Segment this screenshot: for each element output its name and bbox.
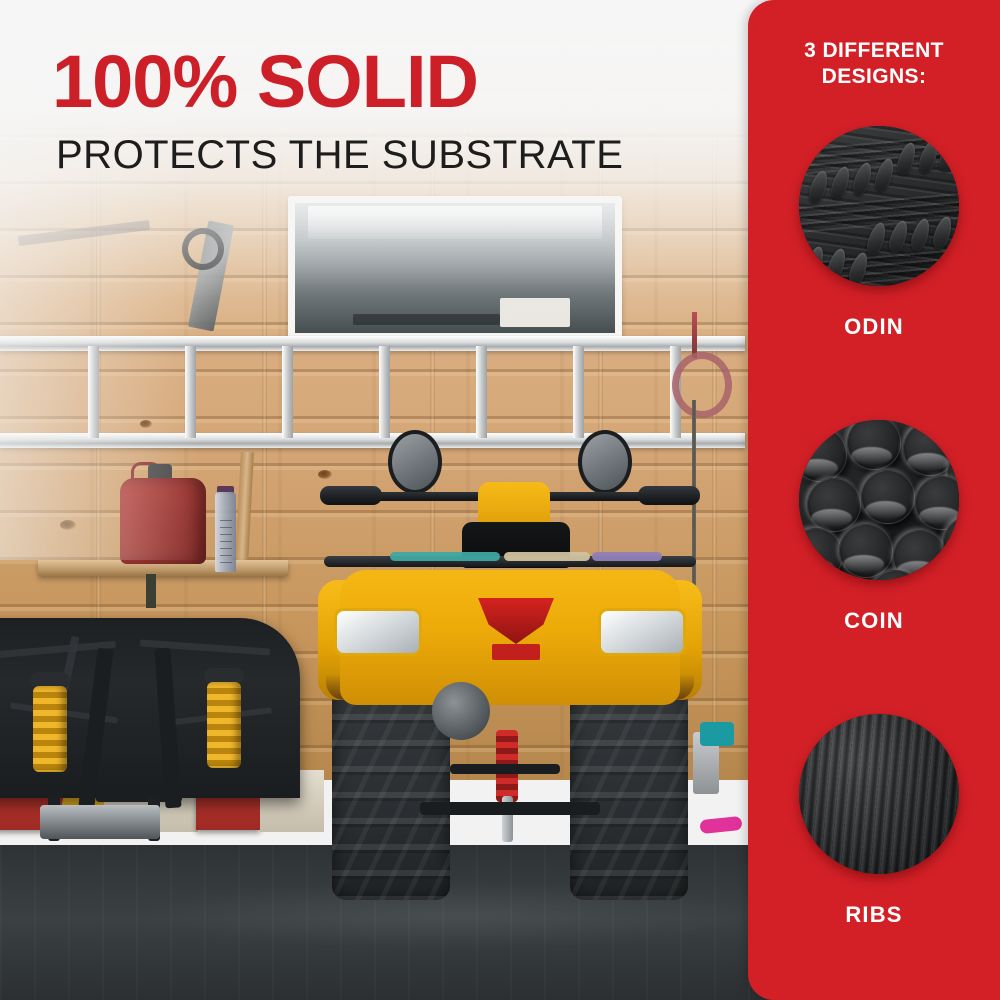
design-option-coin[interactable]: COIN bbox=[748, 412, 1000, 706]
trailer-crossmember bbox=[96, 788, 182, 802]
shelf-bracket bbox=[146, 574, 156, 608]
atv-mirror bbox=[388, 430, 442, 494]
hanging-ring bbox=[672, 352, 732, 418]
designs-panel-heading: 3 DIFFERENT DESIGNS: bbox=[748, 0, 1000, 90]
handlebar-grip bbox=[638, 486, 700, 505]
swatch-odin[interactable] bbox=[799, 126, 959, 286]
swatch-coin[interactable] bbox=[799, 420, 959, 580]
hanging-rod bbox=[692, 312, 697, 358]
rack-rope bbox=[592, 552, 662, 561]
ladder-rung bbox=[476, 346, 487, 438]
coil-spring bbox=[33, 686, 67, 772]
design-swatch-list: ODIN COIN bbox=[748, 118, 1000, 1000]
atv-axle bbox=[450, 764, 560, 774]
rack-rope bbox=[504, 552, 590, 561]
ladder-rung bbox=[573, 346, 584, 438]
window-glare bbox=[308, 206, 602, 240]
design-option-ribs[interactable]: RIBS bbox=[748, 706, 1000, 1000]
window-object bbox=[500, 298, 570, 327]
window-object bbox=[353, 314, 500, 326]
swatch-ribs[interactable] bbox=[799, 714, 959, 874]
page-title: 100% SOLID bbox=[52, 44, 672, 121]
designs-panel: 3 DIFFERENT DESIGNS: bbox=[748, 0, 1000, 1000]
yellow-atv bbox=[300, 430, 720, 900]
promo-graphic: 100% SOLID PROTECTS THE SUBSTRATE 3 DIFF… bbox=[0, 0, 1000, 1000]
atv-tail-lamp-right bbox=[598, 608, 686, 656]
atv-mirror bbox=[578, 430, 632, 494]
tire-tread bbox=[570, 688, 688, 900]
ladder-rail bbox=[0, 336, 745, 351]
garage-window bbox=[288, 196, 622, 340]
atv-rear-tire bbox=[570, 688, 688, 900]
design-label-coin: COIN bbox=[748, 608, 1000, 634]
coil-spring bbox=[207, 682, 241, 768]
trailer-jockey-frame bbox=[40, 805, 160, 839]
red-fuel-can bbox=[120, 478, 206, 564]
atv-swingarm bbox=[420, 802, 600, 815]
design-option-odin[interactable]: ODIN bbox=[748, 118, 1000, 412]
page-subtitle: PROTECTS THE SUBSTRATE bbox=[56, 133, 672, 178]
ladder-rung bbox=[379, 346, 390, 438]
tire-tread bbox=[332, 688, 450, 900]
headline-block: 100% SOLID PROTECTS THE SUBSTRATE bbox=[52, 44, 672, 178]
atv-light-bracket bbox=[492, 644, 540, 660]
ribs-shading bbox=[799, 714, 959, 874]
atv-tail-lamp-left bbox=[334, 608, 422, 656]
design-label-odin: ODIN bbox=[748, 314, 1000, 340]
ladder-rung bbox=[185, 346, 196, 438]
rack-strap bbox=[390, 552, 500, 561]
bottle-scale bbox=[220, 520, 232, 564]
handlebar-grip bbox=[320, 486, 382, 505]
atv-hub bbox=[432, 682, 490, 740]
wood-knot bbox=[60, 520, 76, 530]
atv-rear-tire bbox=[332, 688, 450, 900]
ladder-rung bbox=[282, 346, 293, 438]
ladder-rung bbox=[88, 346, 99, 438]
design-label-ribs: RIBS bbox=[748, 902, 1000, 928]
